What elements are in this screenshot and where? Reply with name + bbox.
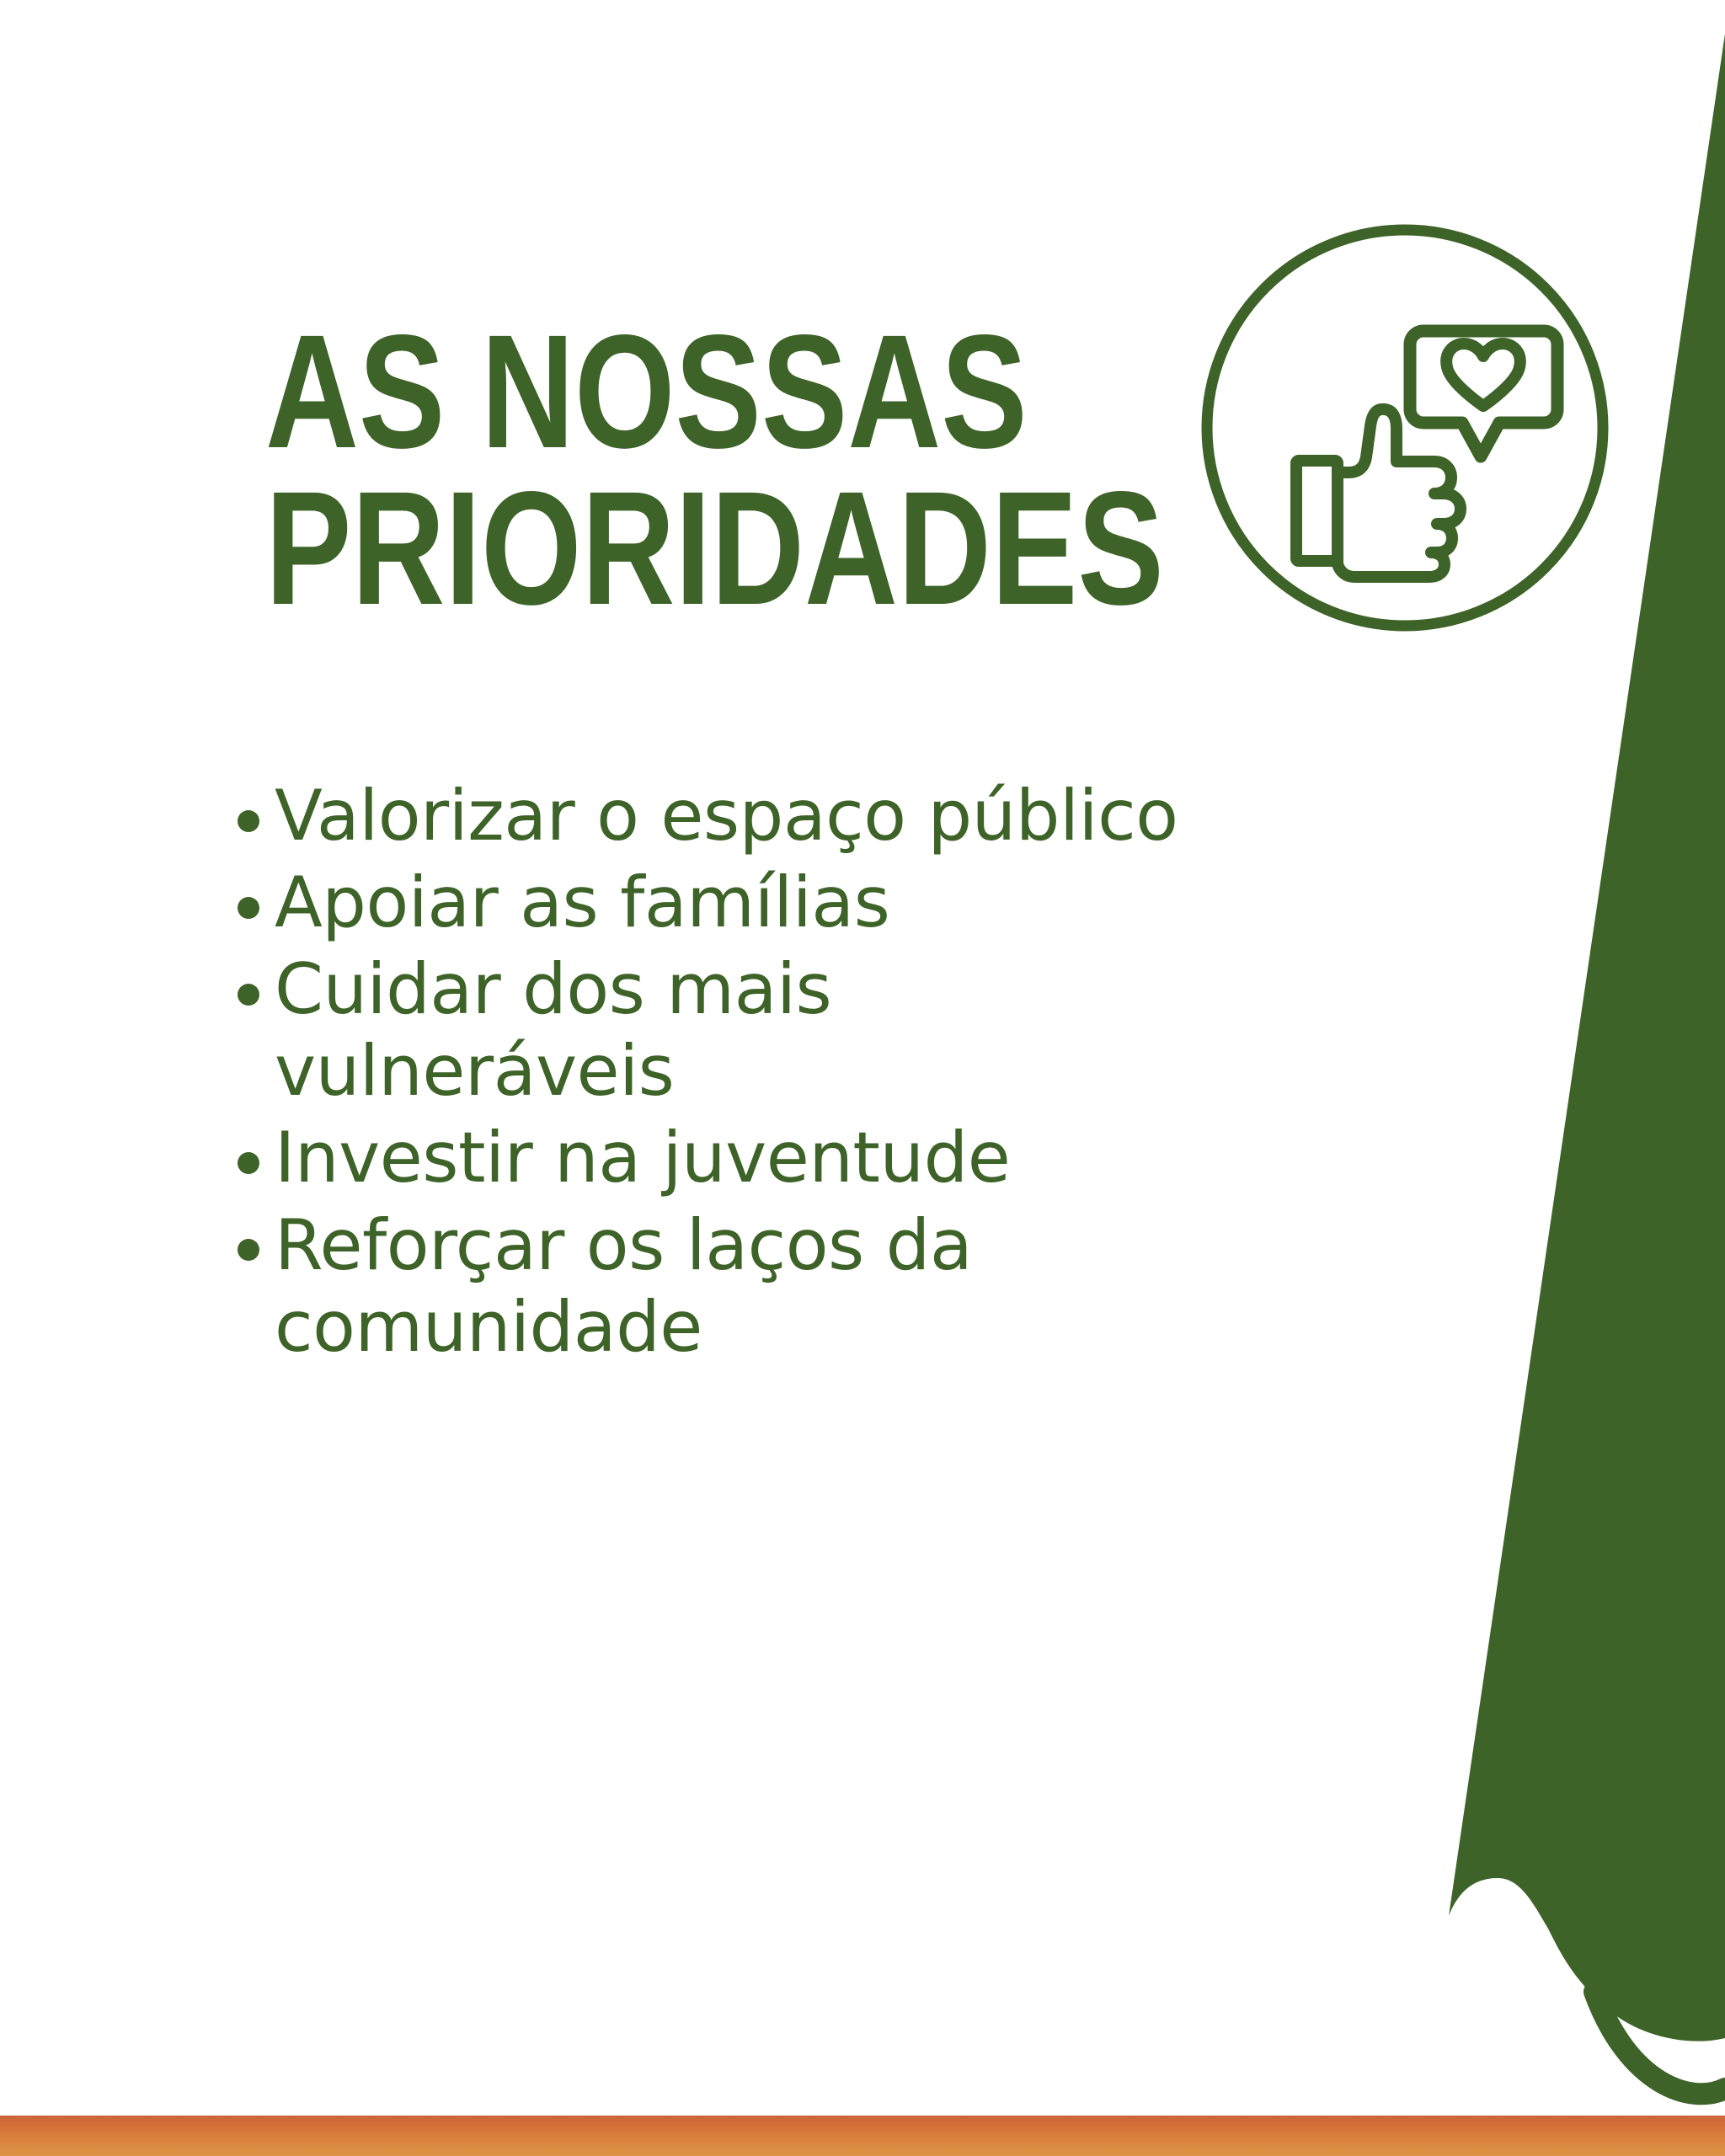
thumbs-up-heart-bubble-icon bbox=[1194, 217, 1616, 638]
list-item: Cuidar dos mais vulneráveis bbox=[226, 948, 1236, 1112]
priorities-list: Valorizar o espaço público Apoiar as fam… bbox=[226, 775, 1236, 1373]
bullet-dot-icon bbox=[238, 897, 259, 919]
thumbs-up-hand-icon bbox=[1338, 409, 1461, 577]
megaphone-handle-icon bbox=[1594, 1992, 1725, 2094]
list-item: Apoiar as famílias bbox=[226, 862, 1236, 943]
bullet-dot-icon bbox=[238, 1152, 259, 1174]
bullet-dot-icon bbox=[238, 1239, 259, 1261]
title-line-1: AS NOSSAS bbox=[265, 313, 980, 470]
bottom-accent-bar bbox=[0, 2116, 1725, 2156]
page-title: AS NOSSAS PRIORIDADES bbox=[265, 313, 1158, 627]
bullet-dot-icon bbox=[238, 984, 259, 1006]
bullet-dot-icon bbox=[238, 810, 259, 832]
list-item-label: Cuidar dos mais vulneráveis bbox=[275, 948, 1236, 1112]
title-line-2: PRIORIDADES bbox=[265, 470, 980, 627]
list-item: Investir na juventude bbox=[226, 1117, 1236, 1198]
poster-canvas: AS NOSSAS PRIORIDADES Valorizar o espaço… bbox=[0, 0, 1725, 2156]
list-item: Reforçar os laços da comunidade bbox=[226, 1204, 1236, 1368]
list-item: Valorizar o espaço público bbox=[226, 775, 1236, 857]
list-item-label: Apoiar as famílias bbox=[275, 862, 1236, 943]
list-item-label: Investir na juventude bbox=[275, 1117, 1236, 1198]
thumb-cuff-icon bbox=[1296, 461, 1338, 561]
list-item-label: Valorizar o espaço público bbox=[275, 775, 1236, 857]
heart-icon bbox=[1446, 344, 1520, 406]
list-item-label: Reforçar os laços da comunidade bbox=[275, 1204, 1236, 1368]
